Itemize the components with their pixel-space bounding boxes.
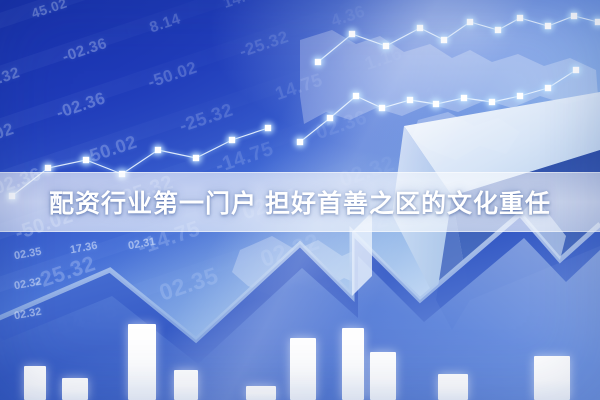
bar <box>128 324 156 400</box>
headline-band: 配资行业第一门户 担好首善之区的文化重任 <box>0 172 600 232</box>
bar <box>370 352 396 400</box>
white-bar-chart <box>0 270 600 400</box>
bar <box>24 366 46 400</box>
bar <box>290 338 316 400</box>
band-bottom-edge <box>0 231 600 232</box>
bar <box>438 374 468 400</box>
bar <box>534 356 570 400</box>
bar <box>62 378 88 400</box>
banner-image: -45.02-02.36-50.02-25.3221.1545.028.14-2… <box>0 0 600 400</box>
band-top-edge <box>0 172 600 173</box>
bar <box>342 328 364 400</box>
bar <box>174 370 198 400</box>
headline-text: 配资行业第一门户 担好首善之区的文化重任 <box>49 184 551 220</box>
bar <box>246 386 276 400</box>
